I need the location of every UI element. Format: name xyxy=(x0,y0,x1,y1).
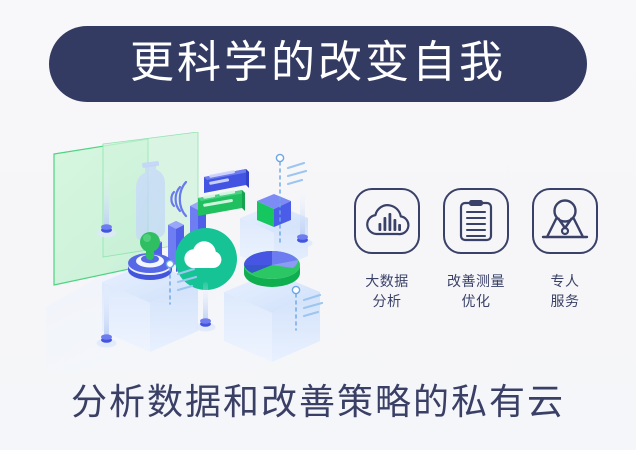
clipboard-icon xyxy=(443,188,509,254)
feature-label: 大数据 分析 xyxy=(365,271,409,312)
feature-item-measurement-optimization[interactable]: 改善测量 优化 xyxy=(439,188,513,338)
title-pill: 更科学的改变自我 xyxy=(49,26,587,102)
cloud-bar-chart-icon xyxy=(354,188,420,254)
headline-text: 分析数据和改善策略的私有云 xyxy=(0,382,636,422)
illustration-isometric-scene xyxy=(46,132,346,372)
feature-item-dedicated-service[interactable]: 专人 服务 xyxy=(528,188,602,338)
feature-list: 大数据 分析 改善测量 优化 xyxy=(350,188,602,338)
page-title: 更科学的改变自我 xyxy=(130,41,506,88)
pie-chart-3d xyxy=(244,251,300,287)
feature-label: 改善测量 优化 xyxy=(447,271,505,312)
cube-3d xyxy=(257,194,291,227)
tag-label-blue xyxy=(204,169,249,193)
promo-banner: 更科学的改变自我 xyxy=(0,0,636,450)
feature-item-big-data-analysis[interactable]: 大数据 分析 xyxy=(350,188,424,338)
tag-label-green xyxy=(198,190,245,216)
service-person-icon xyxy=(532,188,598,254)
feature-label: 专人 服务 xyxy=(551,271,580,312)
